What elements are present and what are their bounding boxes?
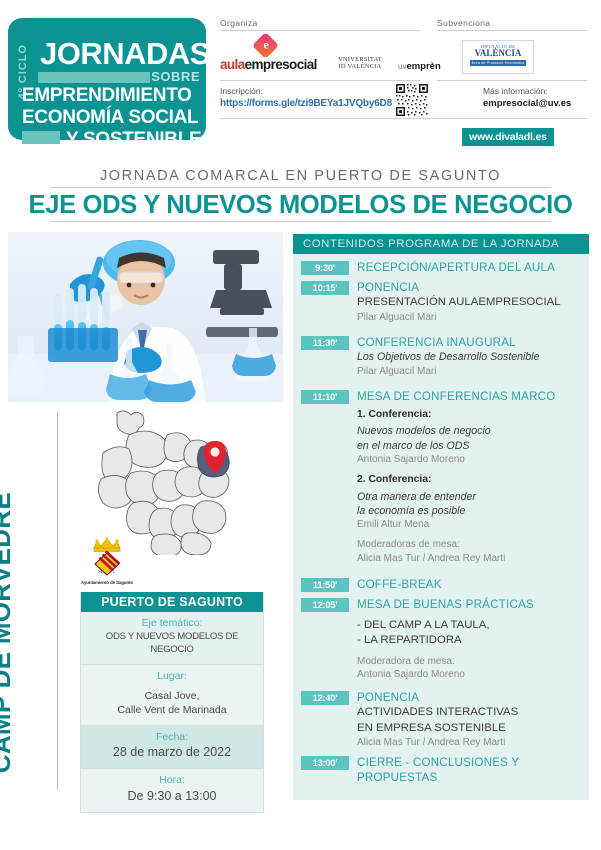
- program-panel: CONTENIDOS PROGRAMA DE LA JORNADA 9:30' …: [293, 234, 589, 800]
- uvempren-logo: uvemprèn: [398, 62, 441, 72]
- brand-line-1: EMPRENDIMIENTO: [22, 86, 192, 105]
- uv-line-2: ID VALÈNCIA: [338, 63, 382, 70]
- brand-jornadas: JORNADAS: [40, 38, 210, 69]
- practice-bullet-2: - LA REPARTIDORA: [357, 633, 583, 648]
- aulaempresocial-logo: aulaempresocial: [220, 36, 332, 76]
- card-section-fecha: Fecha: 28 de marzo de 2022: [81, 726, 263, 770]
- program-row: 9:30' RECEPCIÓN/APERTURA DEL AULA: [297, 260, 583, 275]
- program-time-badge: 12:05': [301, 598, 349, 612]
- program-heading: COFFE-BREAK: [357, 577, 583, 592]
- decorative-bar-2: [22, 131, 60, 144]
- conference-1-title-line1: Nuevos modelos de negocio: [357, 424, 583, 438]
- program-heading: PONENCIA: [357, 280, 583, 295]
- divider: [437, 80, 587, 81]
- program-heading: PONENCIA: [357, 690, 583, 705]
- laboratory-photo: [8, 232, 283, 402]
- subvenciona-label: Subvenciona: [437, 18, 491, 28]
- brand-sobre-row: SOBRE: [38, 70, 200, 84]
- eje-label: Eje temático:: [85, 617, 259, 631]
- moderator-names: Antonia Sajardo Moreno: [357, 668, 583, 682]
- fecha-value: 28 de marzo de 2022: [85, 744, 259, 761]
- inscripcion-label: Inscripción:: [220, 86, 263, 96]
- uvempren-suffix: emprèn: [406, 61, 440, 72]
- divider: [220, 80, 420, 81]
- crest-caption: Ayuntamiento de Sagunto: [78, 580, 136, 585]
- crown-icon: [94, 537, 120, 551]
- contact-email[interactable]: empresocial@uv.es: [483, 98, 571, 109]
- card-header: PUERTO DE SAGUNTO: [81, 592, 263, 612]
- aula-logo-text: aulaempresocial: [220, 58, 317, 72]
- conference-2-title-line1: Otra manera de entender: [357, 490, 583, 504]
- decorative-bar: [38, 72, 150, 83]
- aula-logo-text-a: aula: [220, 57, 245, 72]
- card-section-hora: Hora: De 9:30 a 13:00: [81, 769, 263, 812]
- program-speaker: Pilar Alguacil Mari: [357, 311, 583, 325]
- universitat-valencia-logo: VNIVERSITAT ID VALÈNCIA: [338, 56, 382, 71]
- conference-2-speaker: Emili Altur Mena: [357, 518, 583, 532]
- moderator-label: Moderadora de mesa:: [357, 655, 583, 669]
- conference-1-speaker: Antonia Sajardo Moreno: [357, 453, 583, 467]
- program-time-badge: 11:10': [301, 390, 349, 404]
- lugar-value-2: Calle Vent de Marinada: [85, 703, 259, 717]
- qr-code-icon: [395, 83, 429, 117]
- program-heading: MESA DE BUENAS PRÁCTICAS: [357, 597, 583, 612]
- card-section-eje: Eje temático: ODS Y NUEVOS MODELOS DE NE…: [81, 612, 263, 665]
- program-row: 11:30' CONFERENCIA INAUGURAL Los Objetiv…: [297, 335, 583, 378]
- page-title: EJE ODS Y NUEVOS MODELOS DE NEGOCIO: [0, 191, 601, 220]
- sagunto-coat-of-arms: M L Ayuntamiento de Sagunto: [78, 535, 136, 590]
- program-header: CONTENIDOS PROGRAMA DE LA JORNADA: [293, 234, 589, 254]
- program-title: PRESENTACIÓN AULAEMPRESOCIAL: [357, 295, 583, 310]
- program-title-line1: ACTIVIDADES INTERACTIVAS: [357, 705, 583, 720]
- svg-text:M: M: [98, 569, 102, 574]
- hora-label: Hora:: [85, 774, 259, 788]
- program-subtitle: Los Objetivos de Desarrollo Sostenible: [357, 350, 583, 364]
- diputacio-valencia-logo: DIPUTACIÓ DE VALÈNCIA Àrea de Promoció E…: [462, 40, 534, 74]
- moderators-names: Alicia Mas Tur / Andrea Rey Marti: [357, 552, 583, 566]
- brand-line-3: Y SOSTENIBLE: [66, 130, 201, 149]
- program-speaker: Pilar Alguacil Mari: [357, 365, 583, 379]
- program-heading: RECEPCIÓN/APERTURA DEL AULA: [357, 260, 583, 275]
- aula-diamond-icon: [252, 32, 279, 59]
- diva-bar: Àrea de Promoció Econòmica: [470, 60, 526, 66]
- organiza-label: Organiza: [220, 18, 258, 28]
- lugar-label: Lugar:: [85, 670, 259, 684]
- hora-value: De 9:30 a 13:00: [85, 788, 259, 805]
- inscripcion-url[interactable]: https://forms.gle/tzi9BEYa1JVQby6D8: [220, 98, 392, 109]
- divider: [437, 30, 587, 31]
- program-list: 9:30' RECEPCIÓN/APERTURA DEL AULA 10:15'…: [293, 254, 589, 785]
- svg-text:L: L: [113, 569, 116, 574]
- program-row: 13:00' CIERRE - CONCLUSIONES Y PROPUESTA…: [297, 755, 583, 785]
- program-row: 12:05' MESA DE BUENAS PRÁCTICAS - DEL CA…: [297, 597, 583, 682]
- program-time-badge: 12:40': [301, 691, 349, 705]
- card-section-lugar: Lugar: Casal Jove, Calle Vent de Marinad…: [81, 665, 263, 726]
- program-time-badge: 10:15': [301, 281, 349, 295]
- title-kicker: JORNADA COMARCAL EN PUERTO DE SAGUNTO: [0, 168, 601, 184]
- practice-bullet-1: - DEL CAMP A LA TAULA,: [357, 618, 583, 633]
- program-title-line2: EN EMPRESA SOSTENIBLE: [357, 721, 583, 736]
- conference-1-label: 1. Conferencia:: [357, 408, 583, 422]
- conference-2-label: 2. Conferencia:: [357, 473, 583, 487]
- program-heading: CIERRE - CONCLUSIONES Y PROPUESTAS: [357, 755, 583, 785]
- program-time-badge: 11:30': [301, 336, 349, 350]
- divider: [220, 118, 587, 119]
- program-time-badge: 11:50': [301, 578, 349, 592]
- program-heading: CONFERENCIA INAUGURAL: [357, 335, 583, 350]
- poster-root: 4º CICLO JORNADAS SOBRE EMPRENDIMIENTO E…: [0, 0, 601, 850]
- aula-logo-text-b: empresocial: [245, 57, 317, 72]
- divider: [50, 221, 551, 222]
- brand-line-2: ECONOMÍA SOCIAL: [22, 108, 198, 127]
- moderators-label: Moderadoras de mesa:: [357, 538, 583, 552]
- conference-2-title-line2: la economía es posible: [357, 504, 583, 518]
- brand-sobre: SOBRE: [151, 70, 200, 83]
- conference-1-title-line2: en el marco de los ODS: [357, 439, 583, 453]
- eje-value: ODS Y NUEVOS MODELOS DE NEGOCIO: [85, 631, 259, 657]
- divider: [50, 187, 551, 188]
- program-time-badge: 13:00': [301, 756, 349, 770]
- program-time-badge: 9:30': [301, 261, 349, 275]
- fecha-label: Fecha:: [85, 731, 259, 745]
- diva-line-2: VALÈNCIA: [463, 49, 533, 58]
- program-speaker: Alicia Mas Tur / Andrea Rey Marti: [357, 736, 583, 750]
- lugar-value-1: Casal Jove,: [85, 689, 259, 703]
- divider: [220, 30, 420, 31]
- program-row: 10:15' PONENCIA PRESENTACIÓN AULAEMPRESO…: [297, 280, 583, 324]
- program-row: 12:40' PONENCIA ACTIVIDADES INTERACTIVAS…: [297, 690, 583, 750]
- event-info-card: PUERTO DE SAGUNTO Eje temático: ODS Y NU…: [80, 592, 264, 813]
- program-row: 11:50' COFFE-BREAK: [297, 577, 583, 592]
- valencia-province-map: [95, 405, 250, 555]
- event-brand-block: 4º CICLO JORNADAS SOBRE EMPRENDIMIENTO E…: [8, 18, 206, 140]
- program-heading: MESA DE CONFERENCIAS MARCO: [357, 389, 583, 404]
- mas-informacion-label: Más información:: [483, 86, 548, 96]
- program-row: 11:10' MESA DE CONFERENCIAS MARCO 1. Con…: [297, 389, 583, 565]
- website-badge[interactable]: www.divaladl.es: [462, 128, 554, 146]
